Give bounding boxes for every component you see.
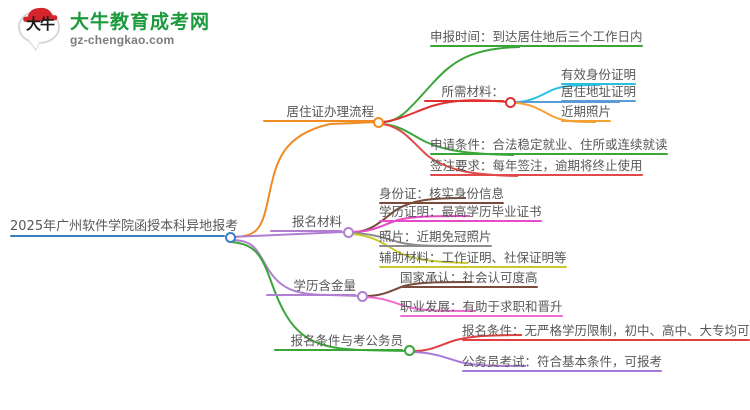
- item-recent-photo[interactable]: 近期照片: [561, 104, 611, 124]
- node-dot-conditions[interactable]: [404, 345, 415, 356]
- branch-residence-permit-process[interactable]: 居住证办理流程: [263, 104, 374, 124]
- item-underline: [400, 286, 538, 288]
- item-label: 近期照片: [561, 104, 611, 119]
- branch-underline: [263, 120, 374, 122]
- item-underline: [462, 370, 662, 372]
- item-label: 职业发展：有助于求职和晋升: [400, 299, 563, 314]
- item-address-proof[interactable]: 居住地址证明: [561, 84, 636, 104]
- item-underline: [379, 245, 492, 247]
- item-label: 公务员考试：符合基本条件，可报考: [462, 354, 662, 369]
- item-underline: [430, 153, 668, 155]
- item-label: 居住地址证明: [561, 84, 636, 99]
- item-underline: [430, 174, 643, 176]
- item-career-development[interactable]: 职业发展：有助于求职和晋升: [400, 299, 563, 319]
- branch-label: 报名条件与考公务员: [290, 333, 403, 348]
- item-entry-requirements[interactable]: 报名条件：无严格学历限制，初中、高中、大专均可: [462, 323, 750, 343]
- item-label: 所需材料：: [441, 84, 504, 99]
- branch-application-materials[interactable]: 报名材料: [270, 214, 342, 234]
- node-dot-degree-value[interactable]: [357, 291, 368, 302]
- item-label: 申报时间：到达居住地后三个工作日内: [430, 29, 643, 44]
- item-label: 辅助材料：工作证明、社保证明等: [379, 250, 567, 265]
- item-label: 报名条件：无严格学历限制，初中、高中、大专均可: [462, 323, 750, 338]
- branch-underline: [270, 230, 342, 232]
- item-application-time[interactable]: 申报时间：到达居住地后三个工作日内: [430, 29, 643, 49]
- branch-conditions-and-civil-service[interactable]: 报名条件与考公务员: [274, 333, 403, 353]
- item-label: 学历证明：最高学历毕业证书: [379, 204, 542, 219]
- item-underline: [462, 339, 750, 341]
- item-photo[interactable]: 照片：近期免冠照片: [379, 229, 492, 249]
- branch-label: 报名材料: [292, 214, 342, 229]
- item-application-conditions[interactable]: 申请条件：合法稳定就业、住所或连续就读: [430, 137, 668, 157]
- item-auxiliary-materials[interactable]: 辅助材料：工作证明、社保证明等: [379, 250, 567, 270]
- node-dot-residence[interactable]: [373, 117, 384, 128]
- item-national-recognition[interactable]: 国家承认：社会认可度高: [400, 270, 538, 290]
- item-id-card[interactable]: 身份证：核实身份信息: [379, 186, 504, 206]
- item-label: 签注要求：每年签注，逾期将终止使用: [430, 158, 643, 173]
- item-label: 国家承认：社会认可度高: [400, 270, 538, 285]
- node-dot-needed-materials[interactable]: [505, 97, 516, 108]
- item-underline: [424, 100, 504, 102]
- branch-label: 居住证办理流程: [286, 104, 374, 119]
- item-endorsement-requirement[interactable]: 签注要求：每年签注，逾期将终止使用: [430, 158, 643, 178]
- root-underline: [10, 235, 225, 237]
- item-underline: [561, 100, 636, 102]
- item-underline: [379, 266, 567, 268]
- branch-underline: [266, 294, 356, 296]
- item-label: 照片：近期免冠照片: [379, 229, 492, 244]
- item-required-materials[interactable]: 所需材料：: [424, 84, 504, 104]
- item-label: 身份证：核实身份信息: [379, 186, 504, 201]
- node-dot-application-materials[interactable]: [343, 227, 354, 238]
- item-education-certificate[interactable]: 学历证明：最高学历毕业证书: [379, 204, 542, 224]
- mindmap-root-label: 2025年广州软件学院函授本科异地报考: [10, 219, 238, 234]
- branch-label: 学历含金量: [293, 278, 356, 293]
- item-underline: [561, 120, 611, 122]
- item-label: 有效身份证明: [561, 67, 636, 82]
- item-civil-service-exam[interactable]: 公务员考试：符合基本条件，可报考: [462, 354, 662, 374]
- item-underline: [379, 220, 542, 222]
- item-underline: [400, 315, 563, 317]
- item-underline: [430, 45, 643, 47]
- branch-underline: [274, 349, 403, 351]
- branch-degree-value[interactable]: 学历含金量: [266, 278, 356, 298]
- mindmap-root-node[interactable]: 2025年广州软件学院函授本科异地报考: [10, 219, 225, 239]
- item-label: 申请条件：合法稳定就业、住所或连续就读: [430, 137, 668, 152]
